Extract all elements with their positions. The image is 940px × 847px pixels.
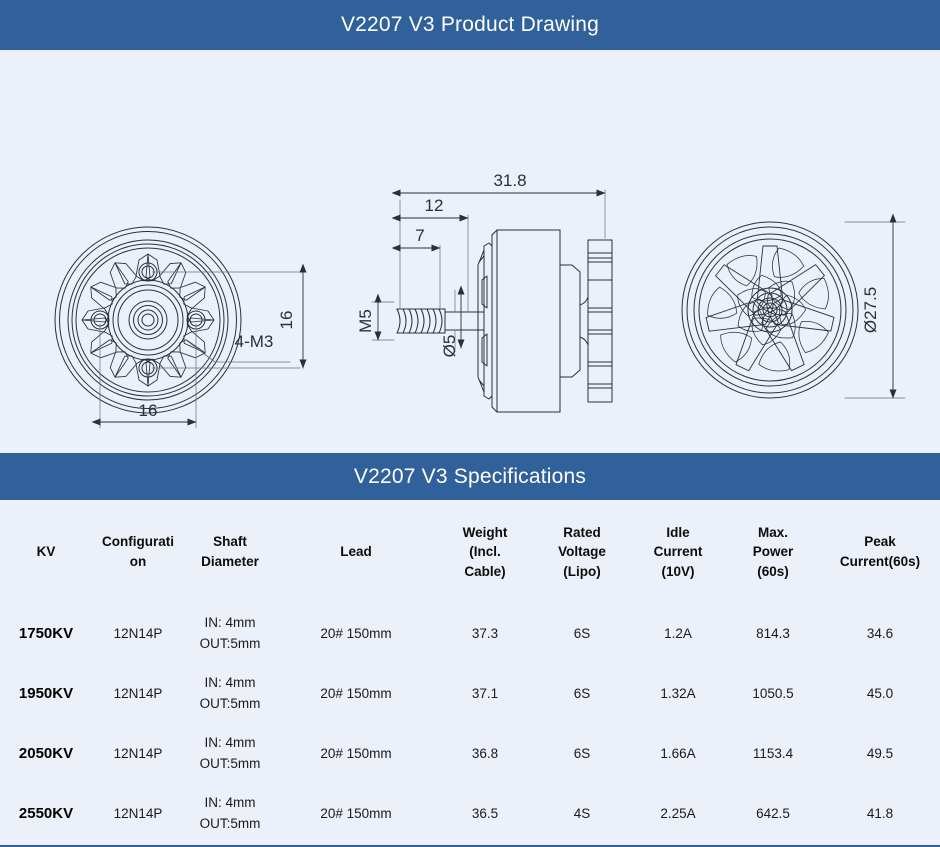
cell-shaft-diameter: IN: 4mm OUT:5mm [184,724,276,784]
dim-label-thread-m5: M5 [356,309,375,333]
shaft-out-value: OUT:5mm [186,754,274,775]
table-row: 2050KV 12N14P IN: 4mm OUT:5mm 20# 150mm … [0,724,940,784]
cell-peak-current: 45.0 [820,664,940,724]
cell-idle-current: 1.32A [630,664,726,724]
cell-shaft-diameter: IN: 4mm OUT:5mm [184,784,276,844]
column-header-configuration: Configuration [92,500,184,604]
shaft-out-value: OUT:5mm [186,634,274,655]
cell-rated-voltage: 6S [534,604,630,664]
table-row: 1950KV 12N14P IN: 4mm OUT:5mm 20# 150mm … [0,664,940,724]
bottom-view-drawing [55,227,303,428]
cell-max-power: 1153.4 [726,724,820,784]
cell-weight: 37.1 [436,664,534,724]
cell-idle-current: 2.25A [630,784,726,844]
specifications-table: KV Configuration ShaftDiameter Lead Weig… [0,500,940,844]
dim-label-4-m3: 4-M3 [235,332,274,351]
cell-lead: 20# 150mm [276,784,436,844]
cell-lead: 20# 150mm [276,664,436,724]
cell-kv: 1750KV [0,604,92,664]
drawing-canvas: 16 16 4-M3 31.8 12 7 M5 Ø5 Ø27.5 [0,50,940,453]
cell-rated-voltage: 6S [534,724,630,784]
cell-weight: 37.3 [436,604,534,664]
cell-kv: 1950KV [0,664,92,724]
shaft-out-value: OUT:5mm [186,814,274,835]
cell-shaft-diameter: IN: 4mm OUT:5mm [184,664,276,724]
cell-max-power: 642.5 [726,784,820,844]
table-header-row: KV Configuration ShaftDiameter Lead Weig… [0,500,940,604]
column-header-weight: Weight(Incl.Cable) [436,500,534,604]
column-header-peak-current: PeakCurrent(60s) [820,500,940,604]
cell-lead: 20# 150mm [276,604,436,664]
table-row: 2550KV 12N14P IN: 4mm OUT:5mm 20# 150mm … [0,784,940,844]
cell-shaft-diameter: IN: 4mm OUT:5mm [184,604,276,664]
dim-label-overall-length-31-8: 31.8 [493,171,526,190]
cell-kv: 2550KV [0,784,92,844]
column-header-kv: KV [0,500,92,604]
cell-configuration: 12N14P [92,724,184,784]
shaft-in-value: IN: 4mm [186,673,274,694]
technical-drawing-area: 16 16 4-M3 31.8 12 7 M5 Ø5 Ø27.5 [0,50,940,453]
shaft-in-value: IN: 4mm [186,613,274,634]
side-view-drawing [372,190,612,412]
cell-idle-current: 1.2A [630,604,726,664]
cell-weight: 36.5 [436,784,534,844]
column-header-rated-voltage: RatedVoltage(Lipo) [534,500,630,604]
cell-lead: 20# 150mm [276,724,436,784]
column-header-idle-current: IdleCurrent(10V) [630,500,726,604]
dim-label-bottom-view-vertical-16: 16 [277,311,296,330]
cell-peak-current: 41.8 [820,784,940,844]
cell-max-power: 814.3 [726,604,820,664]
drawing-title: V2207 V3 Product Drawing [341,13,599,37]
column-header-max-power: Max.Power(60s) [726,500,820,604]
cell-max-power: 1050.5 [726,664,820,724]
table-row: 1750KV 12N14P IN: 4mm OUT:5mm 20# 150mm … [0,604,940,664]
cell-rated-voltage: 6S [534,664,630,724]
shaft-in-value: IN: 4mm [186,733,274,754]
cell-peak-current: 49.5 [820,724,940,784]
cell-kv: 2050KV [0,724,92,784]
specifications-title: V2207 V3 Specifications [354,465,586,489]
cell-rated-voltage: 4S [534,784,630,844]
dim-label-thread-length-7: 7 [415,226,424,245]
dim-label-bell-diameter-27-5: Ø27.5 [861,287,880,333]
column-header-shaft-diameter: ShaftDiameter [184,500,276,604]
specifications-section-header: V2207 V3 Specifications [0,453,940,500]
dim-label-bottom-view-horizontal-16: 16 [139,401,158,420]
shaft-out-value: OUT:5mm [186,694,274,715]
column-header-lead: Lead [276,500,436,604]
cell-configuration: 12N14P [92,664,184,724]
cell-weight: 36.8 [436,724,534,784]
dim-label-shaft-diameter-5: Ø5 [440,335,459,358]
cell-peak-current: 34.6 [820,604,940,664]
dim-label-shaft-length-12: 12 [425,196,444,215]
cell-configuration: 12N14P [92,604,184,664]
shaft-in-value: IN: 4mm [186,793,274,814]
cell-idle-current: 1.66A [630,724,726,784]
cell-configuration: 12N14P [92,784,184,844]
drawing-section-header: V2207 V3 Product Drawing [0,0,940,50]
